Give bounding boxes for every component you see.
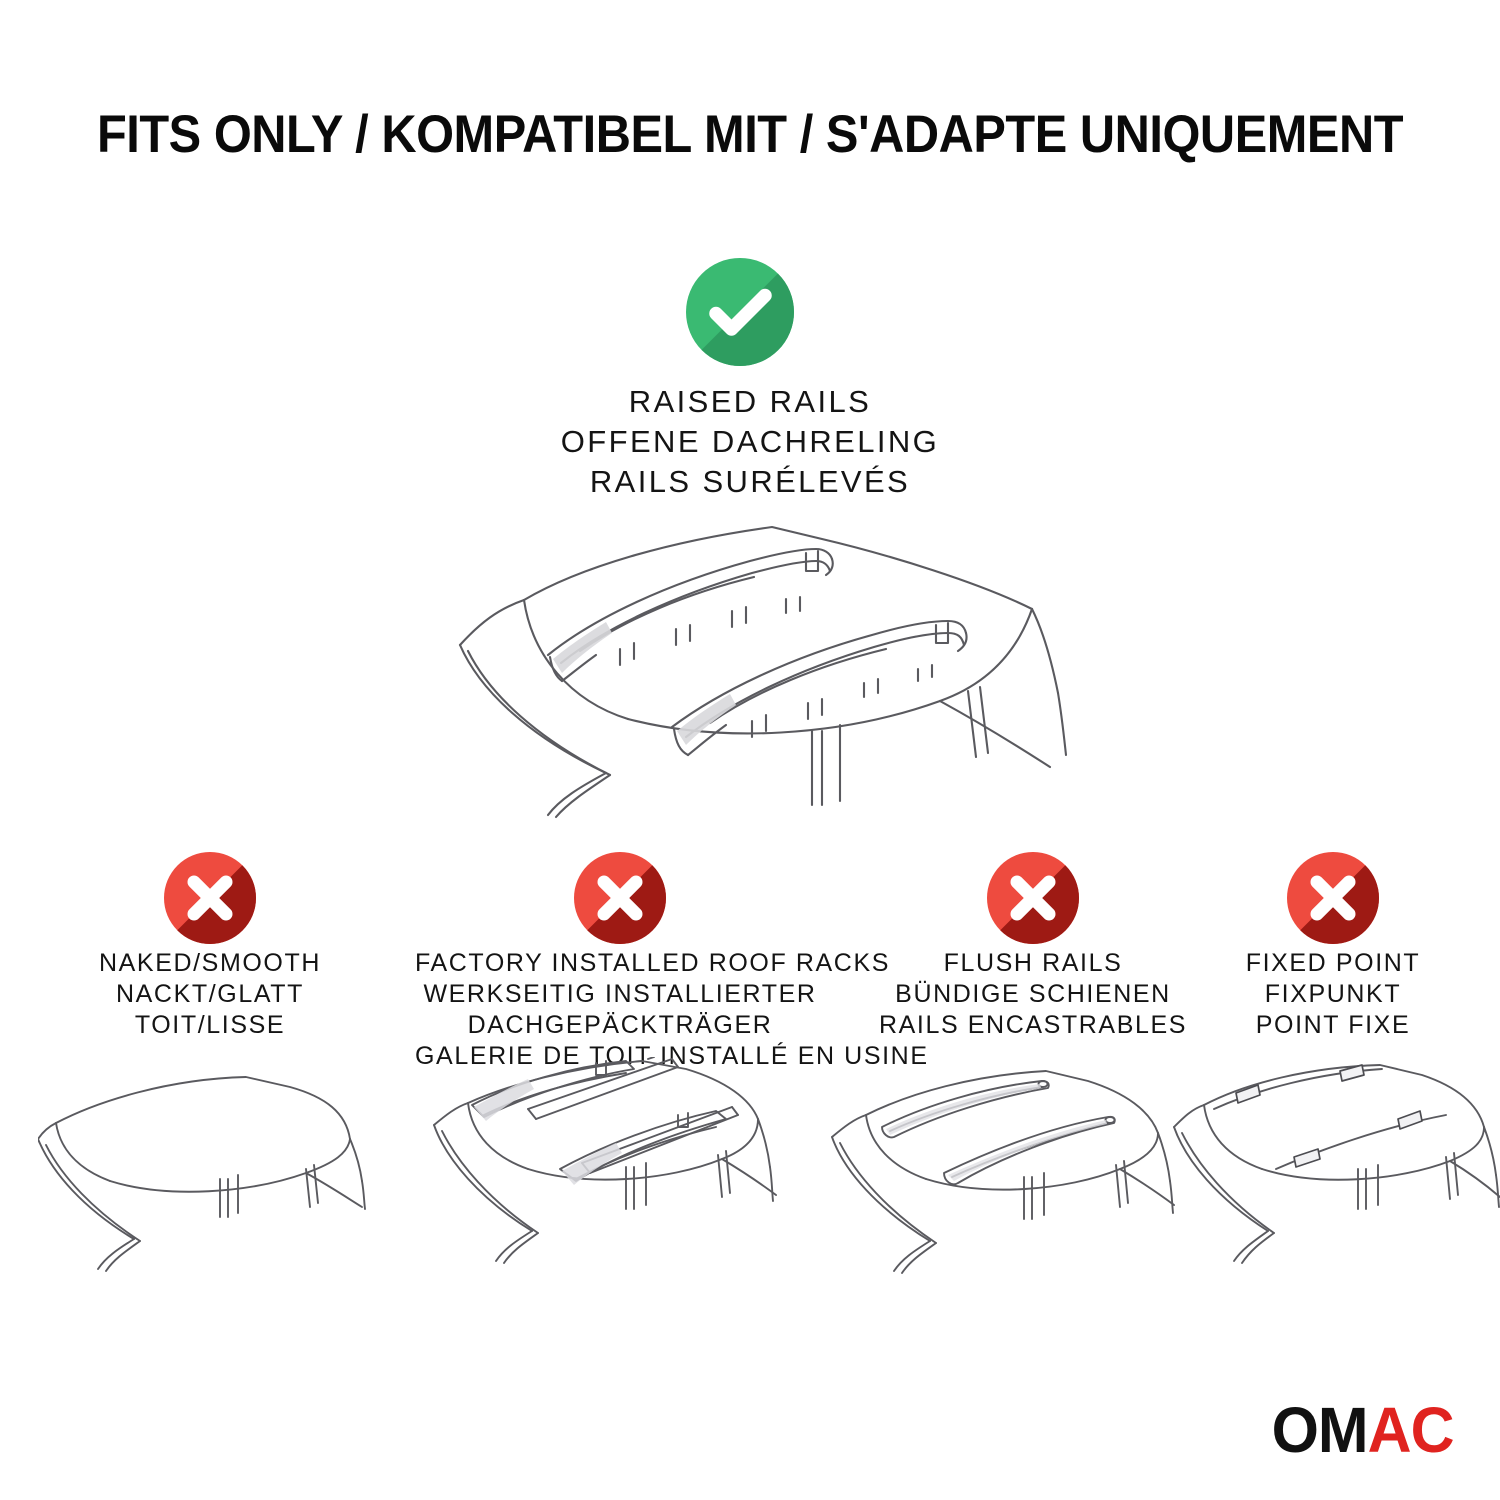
label-de-2: DACHGEPÄCKTRÄGER — [415, 1010, 825, 1041]
logo-text-ac: AC — [1368, 1394, 1454, 1466]
illustration-flush-rails — [820, 1057, 1198, 1292]
omac-logo: OMAC — [1272, 1398, 1454, 1462]
compatible-label-en: RAISED RAILS — [0, 382, 1500, 422]
fixed-point-pad — [1294, 1149, 1320, 1167]
caption-naked-smooth: NAKED/SMOOTH NACKT/GLATT TOIT/LISSE — [10, 948, 410, 1041]
red-x-icon — [987, 852, 1079, 944]
label-de: BÜNDIGE SCHIENEN — [828, 979, 1238, 1010]
compatible-labels: RAISED RAILS OFFENE DACHRELING RAILS SUR… — [0, 382, 1500, 502]
label-en: FIXED POINT — [1180, 948, 1486, 979]
label-fr: POINT FIXE — [1180, 1010, 1486, 1041]
label-fr: TOIT/LISSE — [10, 1010, 410, 1041]
caption-factory-roof-rack: FACTORY INSTALLED ROOF RACKS WERKSEITIG … — [415, 948, 825, 1072]
illustration-raised-rails — [420, 505, 1090, 835]
x-glyph — [1287, 852, 1379, 944]
label-en: NAKED/SMOOTH — [10, 948, 410, 979]
red-x-icon — [1287, 852, 1379, 944]
logo-text-om: OM — [1272, 1394, 1368, 1466]
label-de: WERKSEITIG INSTALLIERTER — [415, 979, 825, 1010]
x-glyph — [987, 852, 1079, 944]
illustration-naked-smooth — [38, 1057, 388, 1292]
fixed-point-pad — [1398, 1111, 1422, 1129]
red-x-icon — [574, 852, 666, 944]
caption-fixed-point: FIXED POINT FIXPUNKT POINT FIXE — [1180, 948, 1486, 1041]
compatible-label-fr: RAILS SURÉLEVÉS — [0, 462, 1500, 502]
x-glyph — [164, 852, 256, 944]
label-en: FACTORY INSTALLED ROOF RACKS — [415, 948, 825, 979]
caption-flush-rails: FLUSH RAILS BÜNDIGE SCHIENEN RAILS ENCAS… — [828, 948, 1238, 1041]
label-de: FIXPUNKT — [1180, 979, 1486, 1010]
x-glyph — [574, 852, 666, 944]
red-x-icon — [164, 852, 256, 944]
check-glyph — [686, 258, 794, 366]
fitment-infographic: FITS ONLY / KOMPATIBEL MIT / S'ADAPTE UN… — [0, 0, 1500, 1500]
label-de: NACKT/GLATT — [10, 979, 410, 1010]
illustration-fixed-point — [1170, 1057, 1500, 1292]
compatible-label-de: OFFENE DACHRELING — [0, 422, 1500, 462]
page-title: FITS ONLY / KOMPATIBEL MIT / S'ADAPTE UN… — [60, 107, 1440, 163]
label-fr: RAILS ENCASTRABLES — [828, 1010, 1238, 1041]
illustration-factory-roof-rack — [410, 1057, 788, 1292]
label-en: FLUSH RAILS — [828, 948, 1238, 979]
green-check-icon — [686, 258, 794, 366]
